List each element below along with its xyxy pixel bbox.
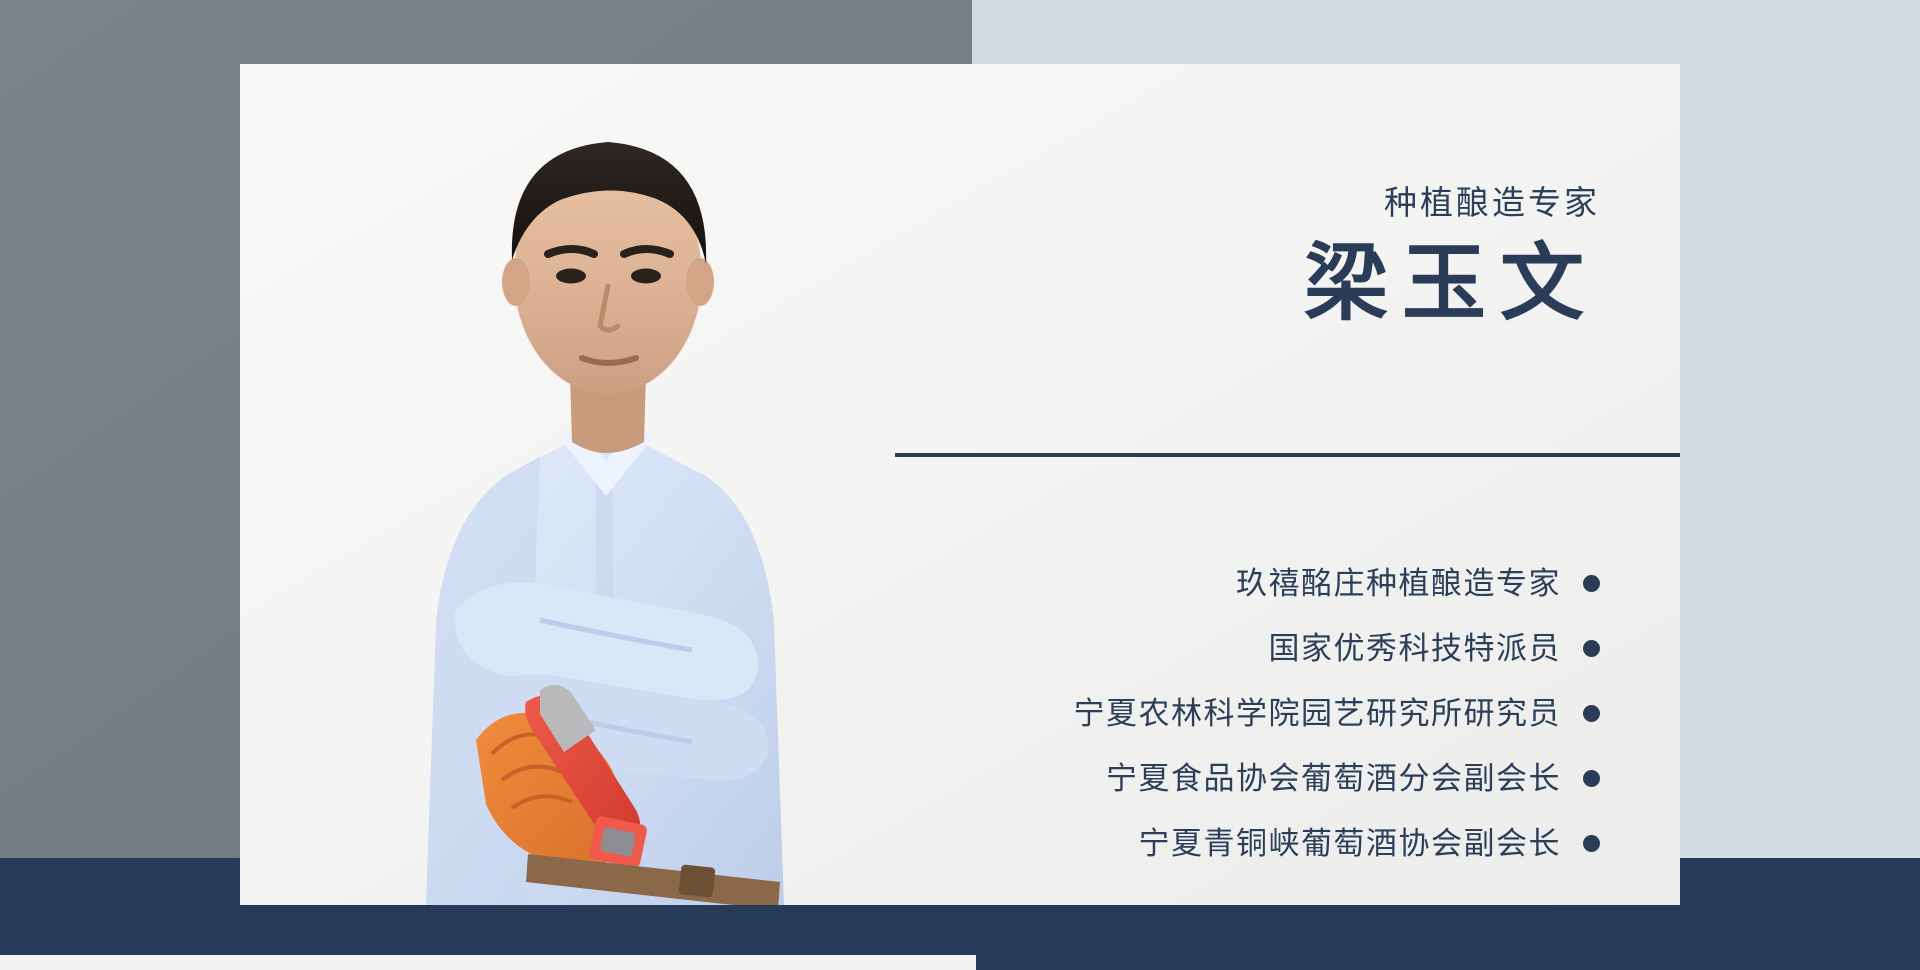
bullet-dot-icon [1583, 835, 1600, 852]
list-item: 宁夏食品协会葡萄酒分会副会长 [700, 746, 1600, 811]
divider-line [895, 453, 1680, 457]
headline-block: 种植酿造专家 梁玉文 [880, 64, 1600, 329]
list-item: 玖禧酩庄种植酿造专家 [700, 551, 1600, 616]
bullet-dot-icon [1583, 640, 1600, 657]
credential-label: 宁夏食品协会葡萄酒分会副会长 [1106, 763, 1561, 794]
headline-divider [895, 447, 1680, 463]
list-item: 宁夏农林科学院园艺研究所研究员 [700, 681, 1600, 746]
credential-label: 宁夏农林科学院园艺研究所研究员 [1074, 698, 1562, 729]
credential-label: 国家优秀科技特派员 [1269, 633, 1562, 664]
credential-label: 玖禧酩庄种植酿造专家 [1236, 568, 1561, 599]
background-bottom-left-strip [0, 955, 976, 970]
bullet-dot-icon [1583, 575, 1600, 592]
bullet-dot-icon [1583, 705, 1600, 722]
credential-label: 宁夏青铜峡葡萄酒协会副会长 [1139, 828, 1562, 859]
list-item: 宁夏青铜峡葡萄酒协会副会长 [700, 811, 1600, 876]
expert-profile-card: 种植酿造专家 梁玉文 玖禧酩庄种植酿造专家 国家优秀科技特派员 宁夏农林科学院园… [240, 64, 1680, 905]
expert-subtitle: 种植酿造专家 [880, 186, 1600, 219]
credentials-list: 玖禧酩庄种植酿造专家 国家优秀科技特派员 宁夏农林科学院园艺研究所研究员 宁夏食… [700, 551, 1600, 876]
expert-name: 梁玉文 [880, 241, 1600, 329]
bullet-dot-icon [1583, 770, 1600, 787]
profile-banner: 种植酿造专家 梁玉文 玖禧酩庄种植酿造专家 国家优秀科技特派员 宁夏农林科学院园… [0, 0, 1920, 970]
list-item: 国家优秀科技特派员 [700, 616, 1600, 681]
